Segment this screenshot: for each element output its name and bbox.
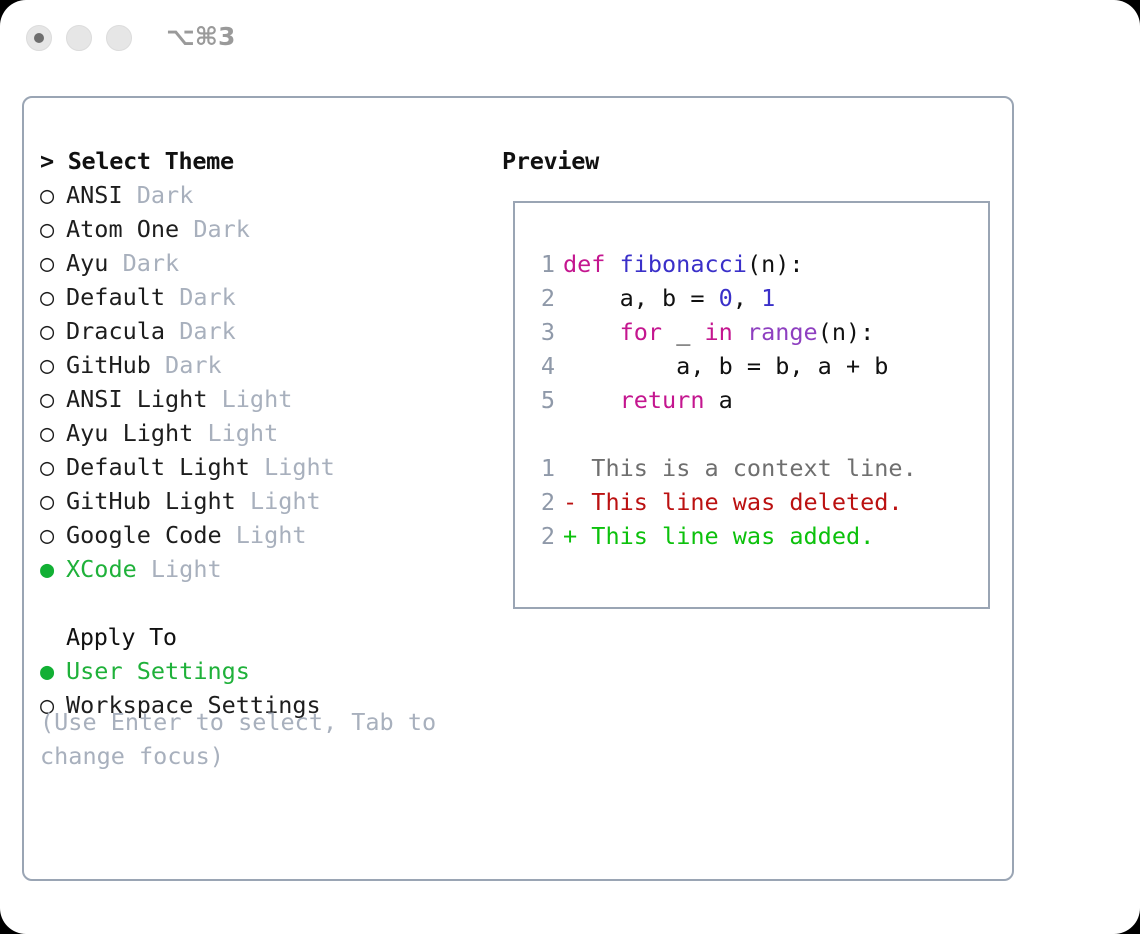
line-number: 1	[529, 247, 555, 281]
code-token: def	[563, 250, 620, 278]
radio-unselected-icon: ○	[40, 314, 66, 348]
theme-variant-badge: Dark	[165, 351, 222, 379]
theme-list-item[interactable]: ○ANSI Dark	[40, 178, 490, 212]
hint-text: (Use Enter to select, Tab to change focu…	[40, 705, 470, 773]
titlebar-dot-three[interactable]	[106, 25, 132, 51]
apply-to-label: User Settings	[66, 657, 250, 685]
apply-to-header: Apply To	[40, 620, 490, 654]
diff-marker	[563, 454, 577, 482]
code-token: fibonacci	[620, 250, 747, 278]
code-token: 0	[719, 284, 733, 312]
keyboard-shortcut-label: ⌥⌘3	[166, 22, 235, 51]
theme-variant-badge: Dark	[193, 215, 250, 243]
code-token: ,	[733, 284, 761, 312]
line-number: 3	[529, 315, 555, 349]
line-number: 2	[529, 485, 555, 519]
code-token: _	[662, 318, 704, 346]
theme-list-item[interactable]: ○ANSI Light Light	[40, 382, 490, 416]
titlebar: ⌥⌘3	[0, 0, 1140, 78]
radio-unselected-icon: ○	[40, 212, 66, 246]
theme-name: Dracula	[66, 317, 179, 345]
app-window: ⌥⌘3 > Select Theme ○ANSI Dark○Atom One D…	[0, 0, 1140, 934]
theme-list-item[interactable]: ○Google Code Light	[40, 518, 490, 552]
diff-text: This is a context line.	[577, 454, 917, 482]
theme-variant-badge: Dark	[137, 181, 194, 209]
radio-unselected-icon: ○	[40, 348, 66, 382]
code-token	[733, 318, 747, 346]
theme-list-item[interactable]: ○Default Light Light	[40, 450, 490, 484]
line-number: 2	[529, 281, 555, 315]
theme-variant-badge: Dark	[179, 283, 236, 311]
theme-name: Google Code	[66, 521, 236, 549]
code-line: 4 a, b = b, a + b	[529, 349, 979, 383]
line-number: 4	[529, 349, 555, 383]
theme-variant-badge: Light	[250, 487, 321, 515]
theme-list: ○ANSI Dark○Atom One Dark○Ayu Dark○Defaul…	[40, 178, 490, 586]
theme-name: GitHub Light	[66, 487, 250, 515]
diff-text: This line was added.	[577, 522, 874, 550]
radio-unselected-icon: ○	[40, 416, 66, 450]
theme-name: GitHub	[66, 351, 165, 379]
code-token: (n):	[747, 250, 804, 278]
radio-unselected-icon: ○	[40, 484, 66, 518]
line-number: 5	[529, 383, 555, 417]
theme-name: Default Light	[66, 453, 264, 481]
theme-variant-badge: Light	[207, 419, 278, 447]
main-panel: > Select Theme ○ANSI Dark○Atom One Dark○…	[22, 96, 1014, 881]
diff-marker: -	[563, 488, 577, 516]
theme-name: Default	[66, 283, 179, 311]
theme-variant-badge: Light	[264, 453, 335, 481]
code-line: 1def fibonacci(n):	[529, 247, 979, 281]
radio-unselected-icon: ○	[40, 518, 66, 552]
code-preview: 1def fibonacci(n):2 a, b = 0, 13 for _ i…	[529, 247, 979, 553]
theme-list-item[interactable]: ○Ayu Dark	[40, 246, 490, 280]
theme-name: Ayu	[66, 249, 123, 277]
theme-name: XCode	[66, 555, 151, 583]
theme-variant-badge: Light	[222, 385, 293, 413]
preview-box: 1def fibonacci(n):2 a, b = 0, 13 for _ i…	[513, 201, 990, 609]
code-token: a	[704, 386, 732, 414]
radio-unselected-icon: ○	[40, 280, 66, 314]
theme-variant-badge: Dark	[123, 249, 180, 277]
radio-unselected-icon: ○	[40, 178, 66, 212]
preview-title: Preview	[502, 144, 1002, 178]
code-diff-separator	[529, 417, 979, 451]
theme-variant-badge: Light	[151, 555, 222, 583]
theme-list-item[interactable]: ●XCode Light	[40, 552, 490, 586]
theme-list-item[interactable]: ○Default Dark	[40, 280, 490, 314]
theme-name: Atom One	[66, 215, 193, 243]
theme-list-item[interactable]: ○GitHub Light Light	[40, 484, 490, 518]
titlebar-dot-two[interactable]	[66, 25, 92, 51]
apply-to-option[interactable]: ●User Settings	[40, 654, 490, 688]
select-theme-header: > Select Theme	[40, 144, 490, 178]
theme-list-item[interactable]: ○Atom One Dark	[40, 212, 490, 246]
theme-selector-column: > Select Theme ○ANSI Dark○Atom One Dark○…	[40, 144, 490, 722]
diff-line: 2+ This line was added.	[529, 519, 979, 553]
code-token: a, b =	[563, 284, 719, 312]
radio-unselected-icon: ○	[40, 450, 66, 484]
record-dot-inner	[34, 33, 44, 43]
diff-line: 1 This is a context line.	[529, 451, 979, 485]
diff-line: 2- This line was deleted.	[529, 485, 979, 519]
code-token	[563, 318, 620, 346]
code-token: 1	[761, 284, 775, 312]
theme-name: Ayu Light	[66, 419, 207, 447]
theme-variant-badge: Light	[236, 521, 307, 549]
spacer	[40, 586, 490, 620]
code-token: range	[747, 318, 818, 346]
diff-marker: +	[563, 522, 577, 550]
code-line: 5 return a	[529, 383, 979, 417]
theme-name: ANSI	[66, 181, 137, 209]
line-number: 2	[529, 519, 555, 553]
code-token: for	[620, 318, 662, 346]
radio-unselected-icon: ○	[40, 246, 66, 280]
theme-list-item[interactable]: ○Ayu Light Light	[40, 416, 490, 450]
code-token: a, b = b, a + b	[563, 352, 888, 380]
code-token: in	[705, 318, 733, 346]
theme-list-item[interactable]: ○GitHub Dark	[40, 348, 490, 382]
code-token: (n):	[818, 318, 875, 346]
theme-list-item[interactable]: ○Dracula Dark	[40, 314, 490, 348]
line-number: 1	[529, 451, 555, 485]
code-line: 2 a, b = 0, 1	[529, 281, 979, 315]
radio-selected-icon: ●	[40, 552, 66, 586]
radio-unselected-icon: ○	[40, 382, 66, 416]
code-token	[563, 386, 620, 414]
preview-column: Preview 1def fibonacci(n):2 a, b = 0, 13…	[502, 144, 1002, 178]
theme-name: ANSI Light	[66, 385, 222, 413]
code-token: return	[620, 386, 705, 414]
code-line: 3 for _ in range(n):	[529, 315, 979, 349]
radio-selected-icon: ●	[40, 654, 66, 688]
theme-variant-badge: Dark	[179, 317, 236, 345]
diff-text: This line was deleted.	[577, 488, 902, 516]
